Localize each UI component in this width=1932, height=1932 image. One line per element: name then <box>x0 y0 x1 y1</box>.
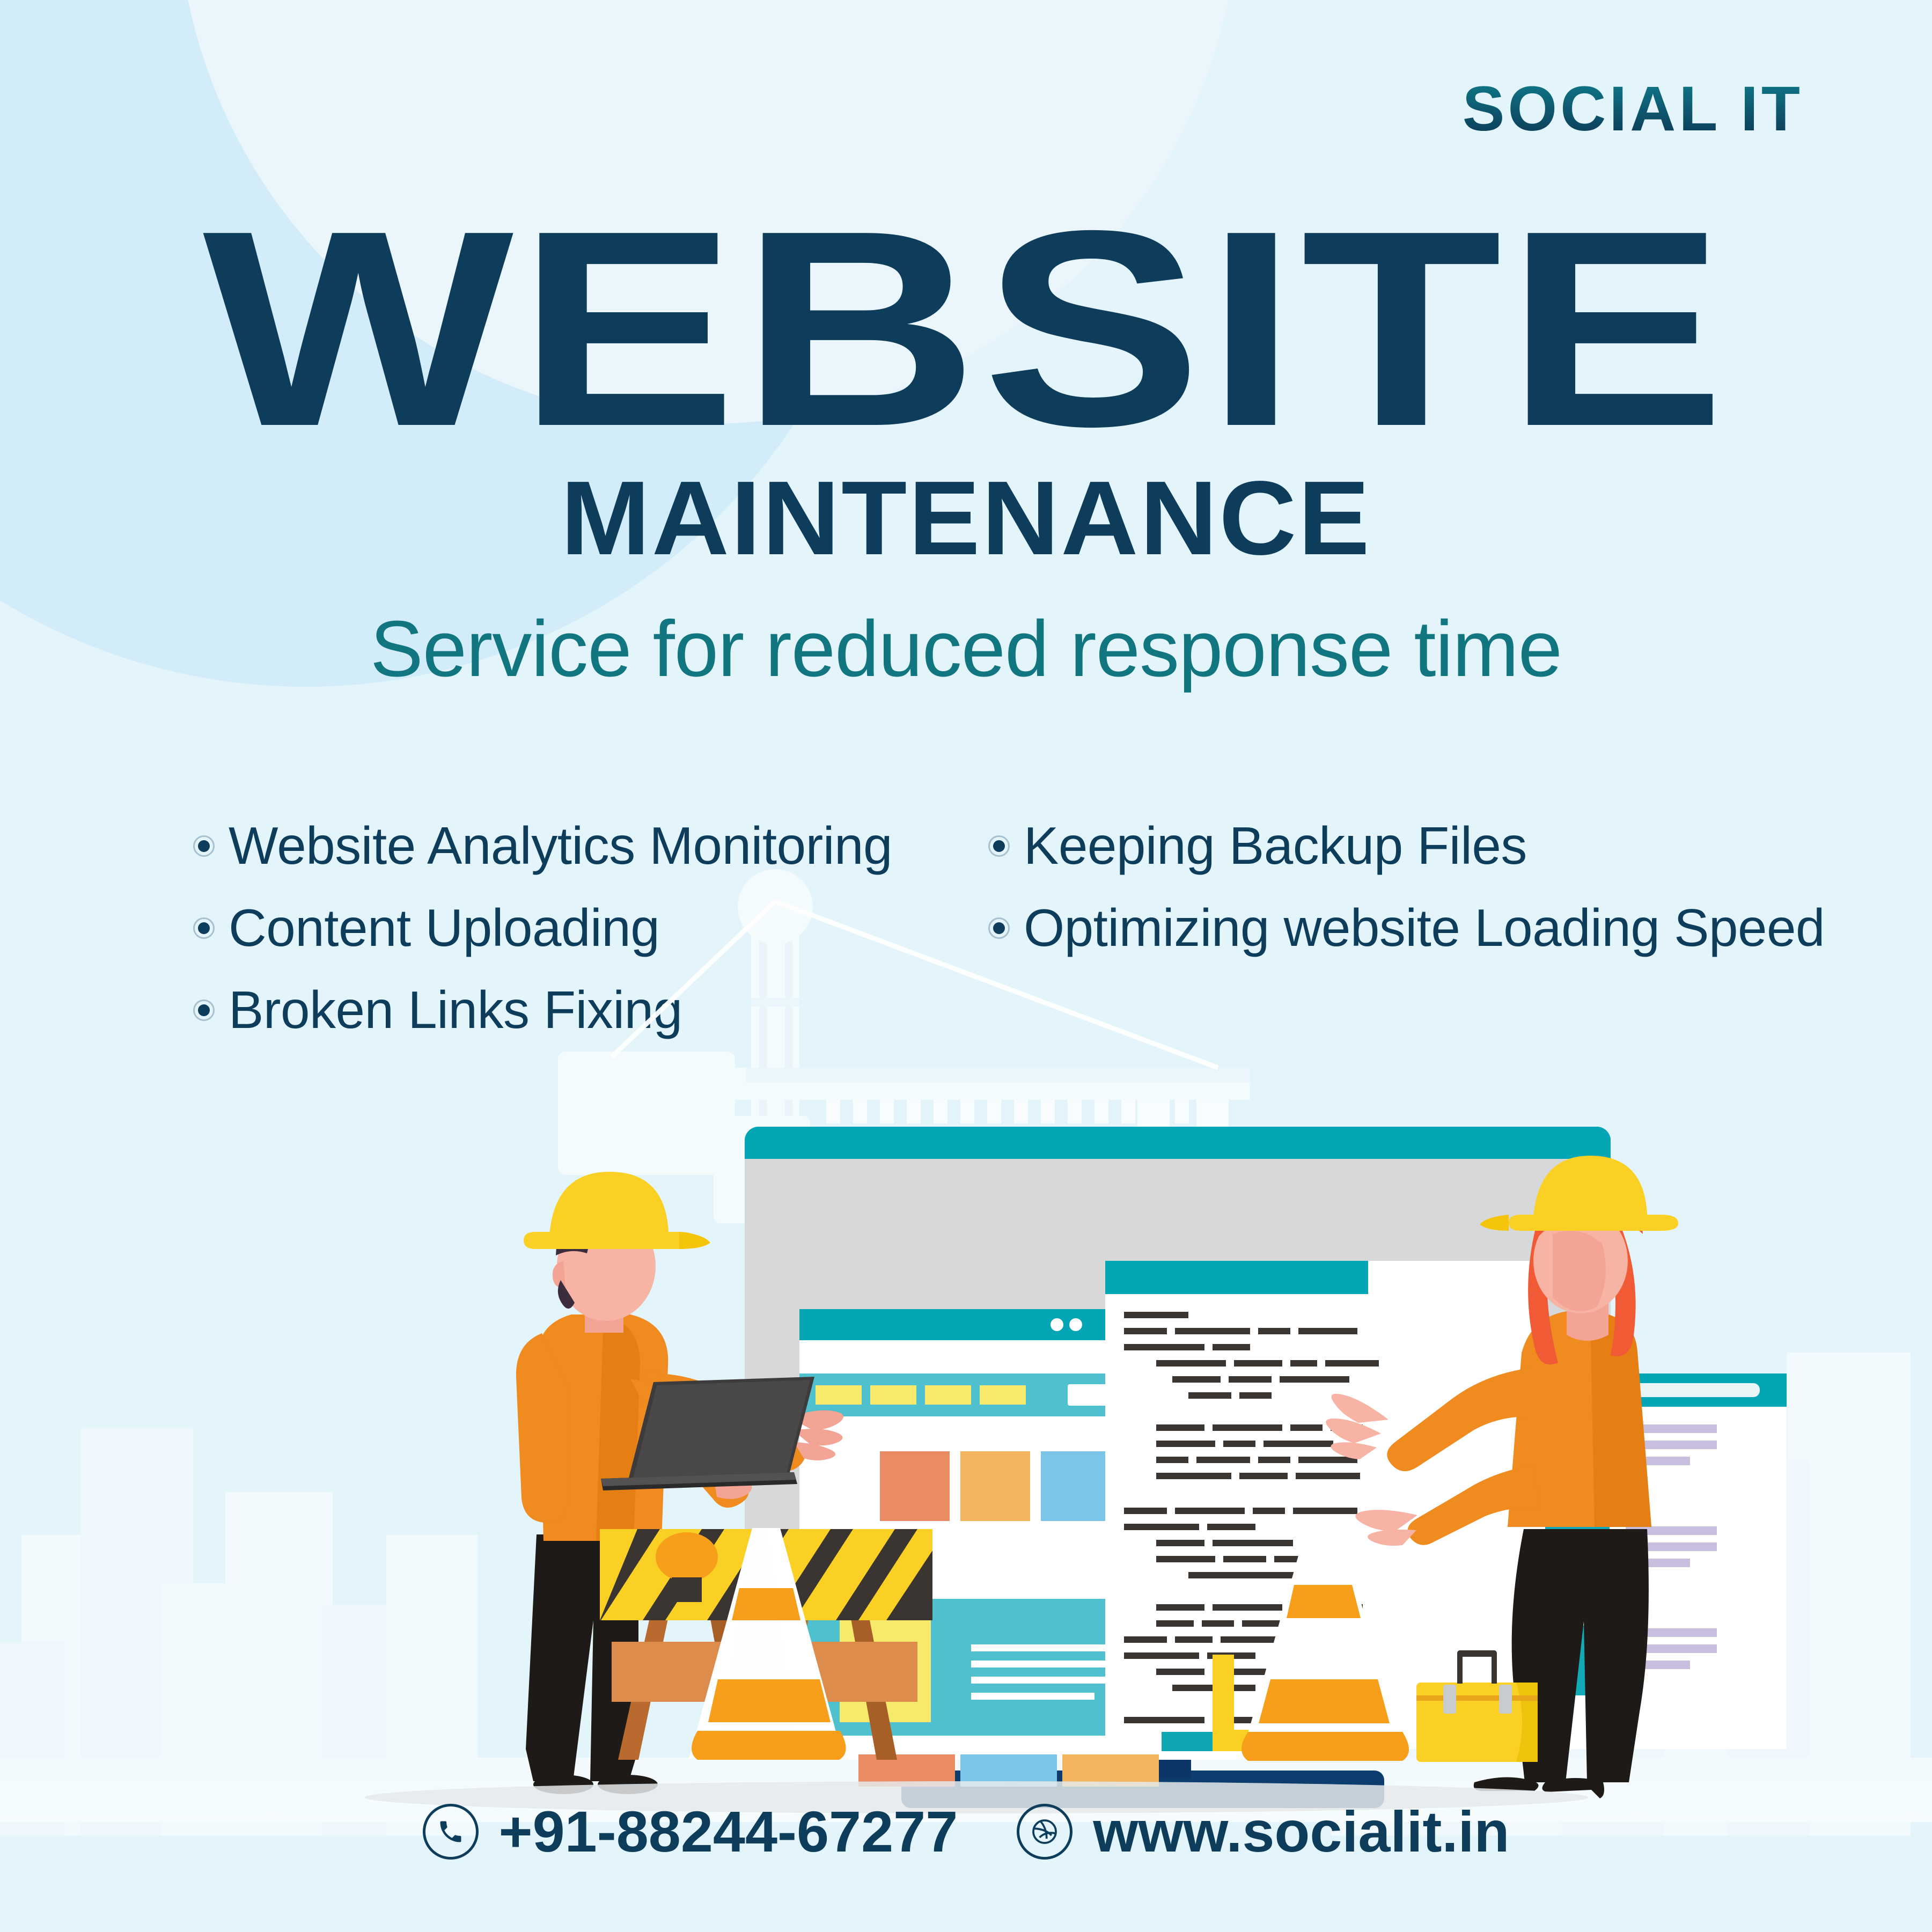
page-subtitle: MAINTENANCE <box>0 466 1932 571</box>
website-contact[interactable]: www.socialit.in <box>1017 1798 1509 1865</box>
phone-icon <box>423 1804 479 1860</box>
page-title: WEBSITE <box>0 215 1932 443</box>
brand-logo: SOCIAL IT <box>1463 72 1803 145</box>
website-url: www.socialit.in <box>1093 1798 1509 1865</box>
hero-illustration <box>0 837 1932 1846</box>
contact-footer: +91-88244-67277 www.socialit.in <box>0 1798 1932 1865</box>
phone-number: +91-88244-67277 <box>499 1798 958 1865</box>
globe-icon <box>1017 1804 1072 1860</box>
phone-contact[interactable]: +91-88244-67277 <box>423 1798 958 1865</box>
headline-group: WEBSITE MAINTENANCE Service for reduced … <box>0 215 1932 689</box>
tagline: Service for reduced response time <box>0 609 1932 689</box>
